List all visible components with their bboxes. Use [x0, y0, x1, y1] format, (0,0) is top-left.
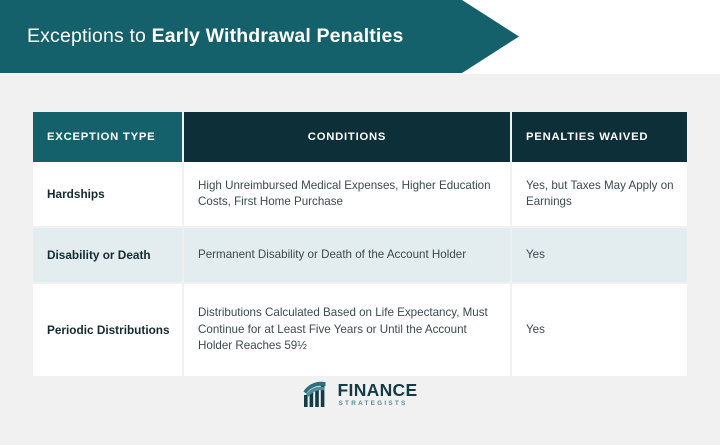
cell-conditions: Permanent Disability or Death of the Acc…: [183, 227, 511, 283]
table-body: Hardships High Unreimbursed Medical Expe…: [33, 162, 687, 376]
cell-conditions: High Unreimbursed Medical Expenses, High…: [183, 162, 511, 227]
column-header-conditions: CONDITIONS: [183, 112, 511, 162]
logo-name: FINANCE: [338, 382, 418, 400]
table-row: Disability or Death Permanent Disability…: [33, 227, 687, 283]
exceptions-table: EXCEPTION TYPE CONDITIONS PENALTIES WAIV…: [33, 112, 687, 376]
bar-chart-swoosh-icon: [303, 381, 333, 408]
page-title-regular: Exceptions to: [27, 25, 152, 47]
cell-exception-type: Periodic Distributions: [33, 283, 183, 376]
brand-logo: FINANCE STRATEGISTS: [0, 381, 720, 408]
table-header: EXCEPTION TYPE CONDITIONS PENALTIES WAIV…: [33, 112, 687, 162]
table-row: Hardships High Unreimbursed Medical Expe…: [33, 162, 687, 227]
page-title-bold: Early Withdrawal Penalties: [152, 25, 404, 47]
exceptions-table-wrapper: EXCEPTION TYPE CONDITIONS PENALTIES WAIV…: [33, 112, 687, 376]
cell-conditions: Distributions Calculated Based on Life E…: [183, 283, 511, 376]
table-header-row: EXCEPTION TYPE CONDITIONS PENALTIES WAIV…: [33, 112, 687, 162]
logo-text: FINANCE STRATEGISTS: [338, 382, 418, 408]
page-title: Exceptions to Early Withdrawal Penalties: [0, 25, 404, 48]
cell-penalties-waived: Yes, but Taxes May Apply on Earnings: [511, 162, 687, 227]
header-banner: Exceptions to Early Withdrawal Penalties: [0, 0, 519, 73]
cell-exception-type: Disability or Death: [33, 227, 183, 283]
table-row: Periodic Distributions Distributions Cal…: [33, 283, 687, 376]
column-header-penalties-waived: PENALTIES WAIVED: [511, 112, 687, 162]
cell-penalties-waived: Yes: [511, 227, 687, 283]
logo-tagline: STRATEGISTS: [338, 401, 418, 407]
cell-penalties-waived: Yes: [511, 283, 687, 376]
column-header-exception-type: EXCEPTION TYPE: [33, 112, 183, 162]
cell-exception-type: Hardships: [33, 162, 183, 227]
